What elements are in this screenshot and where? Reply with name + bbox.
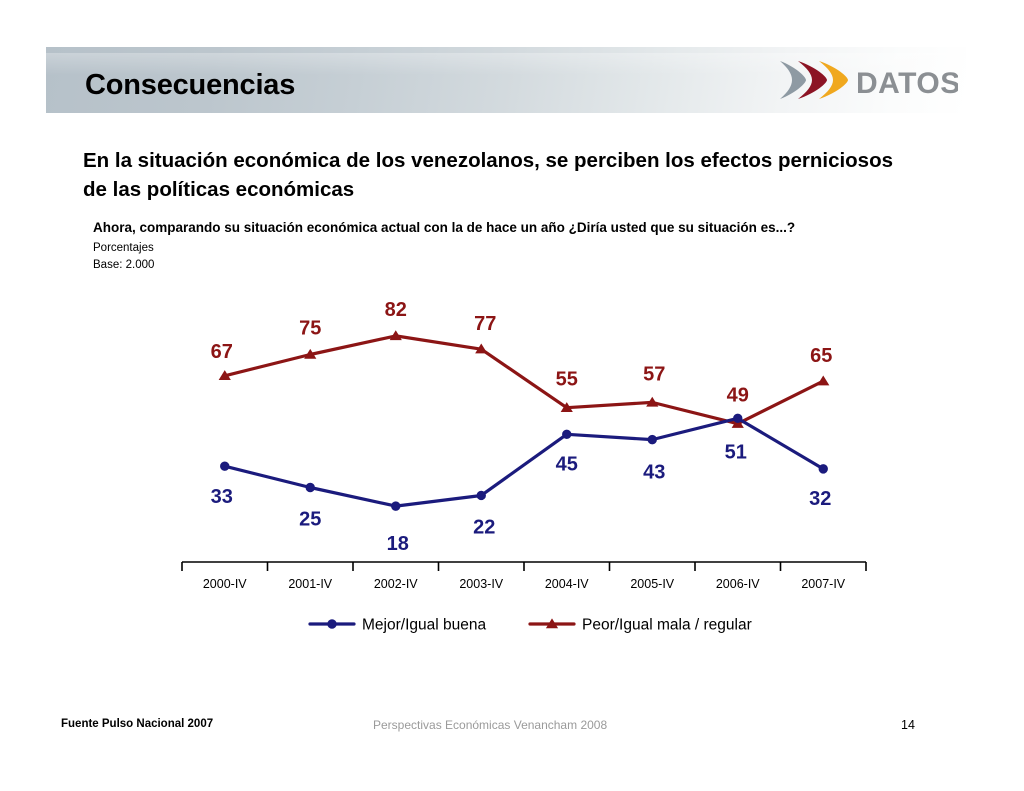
chart-legend: Mejor/Igual buenaPeor/Igual mala / regul… [310, 617, 752, 634]
chart-series [221, 414, 828, 510]
data-label: 33 [211, 486, 233, 508]
slide-subtitle: En la situación económica de los venezol… [83, 146, 913, 204]
data-point-marker [220, 371, 230, 379]
data-point-marker [733, 419, 743, 427]
legend-item[interactable]: Peor/Igual mala / regular [530, 617, 752, 634]
legend-item[interactable]: Mejor/Igual buena [310, 617, 486, 634]
survey-question: Ahora, comparando su situación económica… [93, 220, 933, 235]
logo-chevron-gray [780, 61, 806, 99]
page-title: Consecuencias [85, 69, 295, 102]
logo-wordmark: DATOS [856, 67, 958, 100]
data-point-marker [305, 350, 315, 358]
x-axis-tick-label: 2000-IV [203, 577, 247, 591]
series-data-labels: 3325182245435132 [211, 441, 832, 555]
data-point-marker [647, 398, 657, 406]
data-label: 45 [556, 453, 578, 475]
data-label: 77 [474, 313, 496, 335]
x-axis-tick-label: 2007-IV [801, 577, 845, 591]
x-axis-tick-label: 2005-IV [630, 577, 674, 591]
data-label: 67 [211, 341, 233, 363]
x-axis-tick-label: 2001-IV [288, 577, 332, 591]
data-point-marker [476, 345, 486, 353]
x-axis-tick-label: 2003-IV [459, 577, 503, 591]
data-label: 65 [810, 345, 832, 367]
data-point-marker [818, 376, 828, 384]
chart-series [220, 331, 829, 427]
data-label: 18 [387, 533, 409, 555]
x-axis-tick-label: 2004-IV [545, 577, 589, 591]
x-axis [182, 562, 866, 571]
data-label: 49 [727, 385, 749, 407]
legend-label: Mejor/Igual buena [362, 617, 486, 634]
base-label: Base: 2.000 [93, 259, 154, 271]
units-label: Porcentajes [93, 242, 154, 254]
x-axis-tick-label: 2006-IV [716, 577, 760, 591]
data-label: 32 [809, 488, 831, 510]
data-point-marker [392, 502, 400, 510]
data-label: 43 [643, 462, 665, 484]
series-line [225, 336, 824, 424]
datos-logo: DATOS [776, 58, 958, 102]
data-point-marker [221, 462, 229, 470]
data-point-marker [734, 414, 742, 422]
data-point-marker [547, 619, 557, 627]
x-axis-tick-label: 2002-IV [374, 577, 418, 591]
slide: Consecuencias DATOS En la situación econ… [0, 0, 1024, 791]
data-label: 57 [643, 363, 665, 385]
footer-source: Fuente Pulso Nacional 2007 [61, 718, 213, 730]
x-axis-labels: 2000-IV2001-IV2002-IV2003-IV2004-IV2005-… [203, 577, 846, 591]
data-point-marker [477, 491, 485, 499]
data-label: 75 [299, 318, 321, 340]
data-point-marker [819, 465, 827, 473]
series-data-labels: 6775827755574965 [211, 299, 833, 407]
legend-label: Peor/Igual mala / regular [582, 617, 752, 634]
data-label: 82 [385, 299, 407, 321]
data-label: 22 [473, 516, 495, 538]
data-point-marker [391, 331, 401, 339]
data-label: 25 [299, 509, 321, 531]
data-label: 55 [556, 369, 578, 391]
data-point-marker [648, 435, 656, 443]
data-point-marker [306, 483, 314, 491]
footer-page-number: 14 [901, 718, 915, 732]
data-point-marker [328, 620, 336, 628]
line-chart: 2000-IV2001-IV2002-IV2003-IV2004-IV2005-… [0, 0, 1024, 791]
data-point-marker [562, 403, 572, 411]
data-point-marker [563, 430, 571, 438]
series-line [225, 418, 824, 506]
footer-center-text: Perspectivas Económicas Venancham 2008 [373, 718, 607, 732]
data-label: 51 [725, 441, 747, 463]
